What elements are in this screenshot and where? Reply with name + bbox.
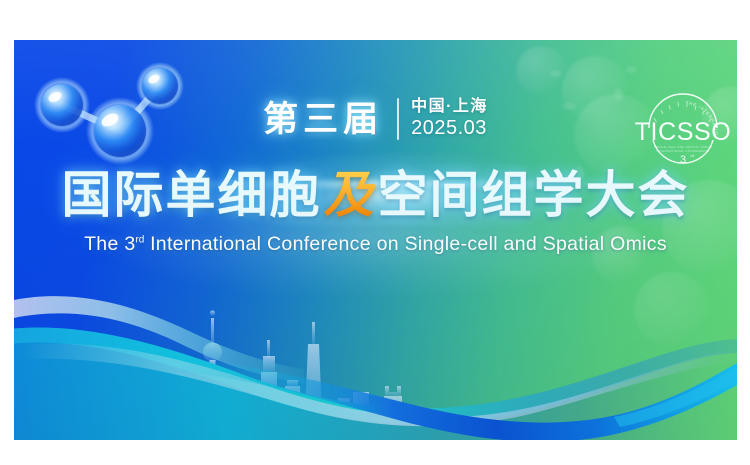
subtitle-rest: International Conference on Single-cell …	[144, 233, 667, 255]
date-label: 2025.03	[411, 118, 488, 139]
wave-ribbons	[14, 265, 737, 440]
title-row: 国际单细胞及空间组学大会	[14, 170, 737, 220]
conference-title: 国际单细胞及空间组学大会	[62, 167, 690, 223]
ticsso-logo: THE INTERNATIONAL CONFERENCE TICSSO SING…	[631, 78, 735, 182]
location-label: 中国·上海	[411, 99, 488, 116]
conference-subtitle-en: The 3rd International Conference on Sing…	[84, 233, 667, 255]
logo-edition-ordinal: rd	[691, 153, 695, 158]
conference-banner: 第三届 中国·上海 2025.03 国际单细胞及空间组学大会 The 3rd I…	[14, 40, 737, 440]
kicker-meta: 中国·上海 2025.03	[411, 99, 488, 139]
logo-subtext: SINGLE-CELL AND SPATIAL OMICS INTERNATIO…	[654, 145, 712, 153]
kicker-divider	[397, 98, 399, 140]
subtitle-prefix: The 3	[84, 233, 135, 255]
logo-wordmark: TICSSO	[635, 118, 732, 146]
title-part-1: 国际单细胞	[62, 167, 322, 223]
edition-label: 第三届	[263, 102, 385, 137]
screenshot-root: 第三届 中国·上海 2025.03 国际单细胞及空间组学大会 The 3rd I…	[0, 0, 750, 465]
molecule-icon	[22, 48, 207, 168]
logo-edition-number: 3	[680, 154, 686, 166]
subtitle-ordinal: rd	[135, 235, 144, 246]
svg-text:INTERNATIONAL CONFERENCE: INTERNATIONAL CONFERENCE	[657, 149, 710, 153]
light-glow-burst	[210, 148, 570, 226]
title-highlight-character: 及	[322, 170, 378, 220]
subtitle-row: The 3rd International Conference on Sing…	[14, 233, 737, 256]
light-glow-streak	[164, 178, 624, 190]
